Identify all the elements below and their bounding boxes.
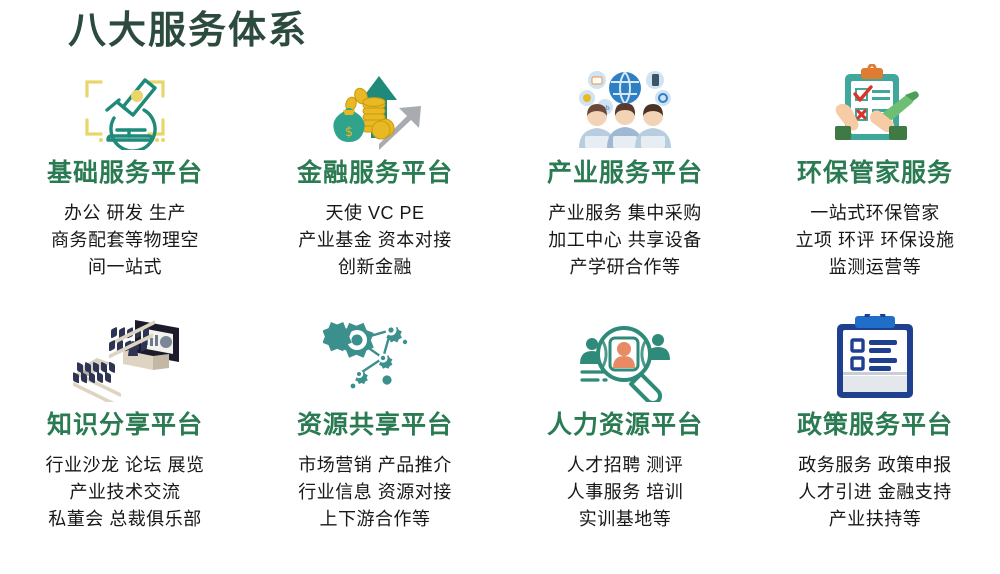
svg-text:$: $ bbox=[345, 125, 353, 140]
page-title: 八大服务体系 bbox=[68, 8, 308, 56]
card-title: 人力资源平台 bbox=[547, 412, 703, 440]
card-title: 环保管家服务 bbox=[797, 160, 953, 188]
service-card-finance[interactable]: $ 金融服务平台 天使 VC PE 产业基金 资本对接 创新金融 bbox=[250, 58, 500, 308]
card-line: 产业服务 集中采购 bbox=[548, 200, 702, 227]
service-card-policy[interactable]: 政策服务平台 政务服务 政策申报 人才引进 金融支持 产业扶持等 bbox=[750, 308, 1000, 558]
card-title: 产业服务平台 bbox=[547, 160, 703, 188]
card-line: 人才招聘 测评 bbox=[567, 452, 684, 479]
service-card-industry[interactable]: Job bbox=[500, 58, 750, 308]
service-system-infographic: 八大服务体系 bbox=[0, 0, 1000, 574]
card-line: 上下游合作等 bbox=[298, 506, 452, 533]
card-line: 产业扶持等 bbox=[798, 506, 952, 533]
card-line: 政务服务 政策申报 bbox=[798, 452, 952, 479]
card-description: 行业沙龙 论坛 展览 产业技术交流 私董会 总裁俱乐部 bbox=[45, 452, 204, 534]
card-description: 天使 VC PE 产业基金 资本对接 创新金融 bbox=[298, 200, 452, 282]
card-line: 人事服务 培训 bbox=[567, 479, 684, 506]
card-line: 加工中心 共享设备 bbox=[548, 227, 702, 254]
service-card-basic[interactable]: 基础服务平台 办公 研发 生产 商务配套等物理空 间一站式 bbox=[0, 58, 250, 308]
team-network-icon: Job bbox=[555, 62, 695, 150]
card-description: 人才招聘 测评 人事服务 培训 实训基地等 bbox=[567, 452, 684, 534]
card-title: 政策服务平台 bbox=[797, 412, 953, 440]
microscope-icon bbox=[55, 62, 195, 150]
card-line: 创新金融 bbox=[298, 254, 452, 281]
talent-search-icon bbox=[555, 314, 695, 402]
card-line: 产业技术交流 bbox=[45, 479, 204, 506]
card-title: 基础服务平台 bbox=[47, 160, 203, 188]
card-line: 私董会 总裁俱乐部 bbox=[45, 506, 204, 533]
card-line: 监测运营等 bbox=[795, 254, 954, 281]
service-card-resource[interactable]: 资源共享平台 市场营销 产品推介 行业信息 资源对接 上下游合作等 bbox=[250, 308, 500, 558]
card-description: 政务服务 政策申报 人才引进 金融支持 产业扶持等 bbox=[798, 452, 952, 534]
lecture-hall-icon bbox=[55, 314, 195, 402]
card-line: 间一站式 bbox=[51, 254, 199, 281]
card-title: 知识分享平台 bbox=[47, 412, 203, 440]
card-description: 办公 研发 生产 商务配套等物理空 间一站式 bbox=[51, 200, 199, 282]
card-line: 人才引进 金融支持 bbox=[798, 479, 952, 506]
money-bag-growth-icon: $ bbox=[305, 62, 445, 150]
card-line: 实训基地等 bbox=[567, 506, 684, 533]
service-card-knowledge[interactable]: 知识分享平台 行业沙龙 论坛 展览 产业技术交流 私董会 总裁俱乐部 bbox=[0, 308, 250, 558]
clipboard-checklist-hands-icon bbox=[805, 62, 945, 150]
card-title: 金融服务平台 bbox=[297, 160, 453, 188]
connected-gears-icon bbox=[305, 314, 445, 402]
card-line: 产业基金 资本对接 bbox=[298, 227, 452, 254]
card-line: 立项 环评 环保设施 bbox=[795, 227, 954, 254]
card-line: 办公 研发 生产 bbox=[51, 200, 199, 227]
card-line: 天使 VC PE bbox=[298, 200, 452, 227]
card-line: 行业信息 资源对接 bbox=[298, 479, 452, 506]
policy-clipboard-icon bbox=[805, 314, 945, 402]
service-card-grid: 基础服务平台 办公 研发 生产 商务配套等物理空 间一站式 bbox=[0, 58, 1000, 558]
service-card-environment[interactable]: 环保管家服务 一站式环保管家 立项 环评 环保设施 监测运营等 bbox=[750, 58, 1000, 308]
card-title: 资源共享平台 bbox=[297, 412, 453, 440]
card-line: 产学研合作等 bbox=[548, 254, 702, 281]
card-line: 行业沙龙 论坛 展览 bbox=[45, 452, 204, 479]
card-line: 一站式环保管家 bbox=[795, 200, 954, 227]
service-card-hr[interactable]: 人力资源平台 人才招聘 测评 人事服务 培训 实训基地等 bbox=[500, 308, 750, 558]
card-line: 市场营销 产品推介 bbox=[298, 452, 452, 479]
card-description: 一站式环保管家 立项 环评 环保设施 监测运营等 bbox=[795, 200, 954, 282]
card-description: 产业服务 集中采购 加工中心 共享设备 产学研合作等 bbox=[548, 200, 702, 282]
card-description: 市场营销 产品推介 行业信息 资源对接 上下游合作等 bbox=[298, 452, 452, 534]
card-line: 商务配套等物理空 bbox=[51, 227, 199, 254]
